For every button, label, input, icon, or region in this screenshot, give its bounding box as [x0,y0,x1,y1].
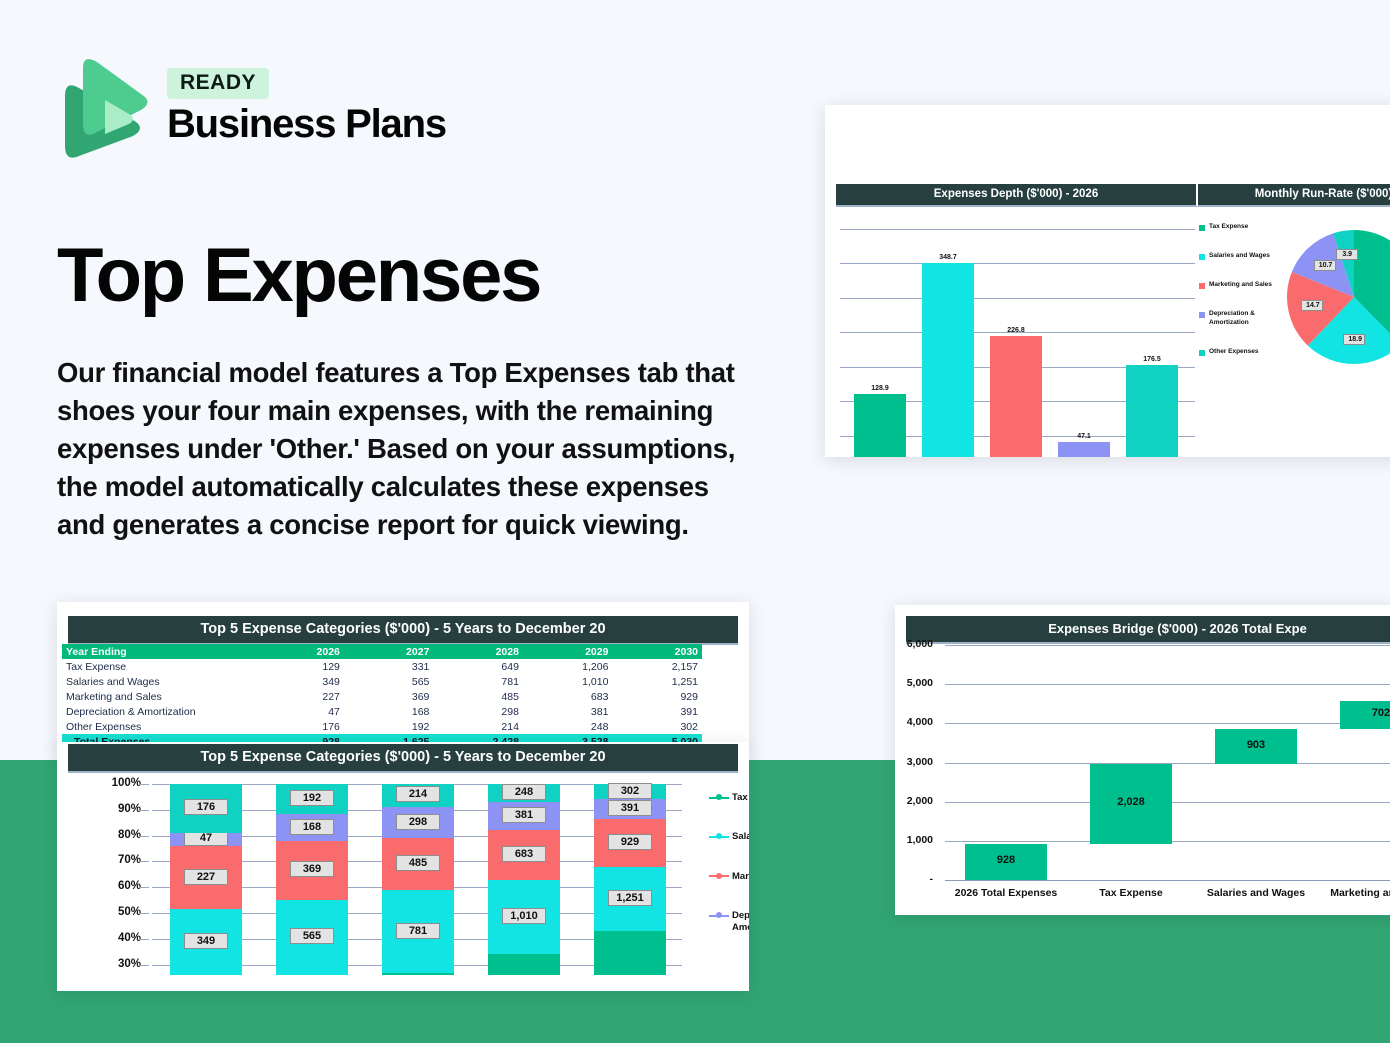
y-tick-label: 1,000 [907,834,933,846]
panel-expenses-depth: Expenses Depth ($'000) - 2026 Monthly Ru… [825,105,1390,457]
y-tick-label: 30% [118,958,141,970]
cell: 381 [523,704,613,719]
cell: 298 [433,704,523,719]
cell: 302 [612,719,702,734]
legend-swatch [1199,283,1205,289]
tick-mark [139,887,149,888]
legend-marker [709,872,729,880]
bar-value-label: 176.5 [1126,356,1178,363]
chart-title-expenses-depth: Expenses Depth ($'000) - 2026 [836,184,1198,207]
legend-label: Marketing and Sales [1209,281,1272,289]
stacked-legend-item-1: Salaries and Wages [709,831,749,842]
row-label: Salaries and Wages [62,674,262,689]
y-tick-label: 70% [118,854,141,866]
table-body: Tax Expense1293316491,2062,157Salaries a… [62,659,702,749]
cell: 781 [433,674,523,689]
row-label: Other Expenses [62,719,262,734]
row-label: Marketing and Sales [62,689,262,704]
gridline [945,880,1390,881]
ready-badge: READY [167,68,269,99]
segment-value-label: 781 [396,923,440,939]
table-row: Marketing and Sales227369485683929 [62,689,702,704]
hero-section: READY Business Plans Top Expenses Our fi… [57,55,787,544]
segment-value-label: 349 [184,933,228,949]
bar-value-label: 47.1 [1058,433,1110,440]
tick-mark [139,784,149,785]
stacked-chart-yaxis: 30%40%50%60%70%80%90%100% [67,780,149,975]
bridge-chart-plot: 9282,028903702 [945,645,1390,880]
page-title: Top Expenses [57,238,787,314]
stacked-chart-legend: Tax ExpenseSalaries and WagesMarketing a… [709,792,749,961]
col-header-2: 2027 [344,644,434,659]
col-header-1: 2026 [262,644,344,659]
category-label: 2026 Total Expenses [945,887,1067,899]
bridge-chart-yaxis: -1,0002,0003,0004,0005,0006,000 [895,645,941,880]
legend-item-4: Other Expenses [1199,348,1285,356]
y-tick-label: 50% [118,906,141,918]
tick-mark [139,913,149,914]
pie-value-label: 10.7 [1314,260,1336,271]
segment-value-label: 1,251 [608,890,652,906]
category-label: Tax Expense [1070,887,1192,899]
panel-expenses-bridge: Expenses Bridge ($'000) - 2026 Total Exp… [895,605,1390,915]
gridline [840,263,1195,264]
segment-value-label: 381 [502,807,546,823]
stack-segment-0 [382,973,454,975]
stacked-legend-item-3: Depreciation & Amortization [709,910,749,933]
y-tick-label: - [930,873,934,885]
stack-segment-0 [488,954,560,975]
gridline [840,298,1195,299]
legend-label: Salaries and Wages [732,831,749,842]
panel-top5-stacked-chart: Top 5 Expense Categories ($'000) - 5 Yea… [57,742,749,991]
cell: 1,010 [523,674,613,689]
legend-label: Salaries and Wages [1209,252,1270,260]
y-tick-label: 3,000 [907,756,933,768]
cell: 485 [433,689,523,704]
segment-value-label: 369 [290,861,334,877]
y-tick-label: 4,000 [907,716,933,728]
cell: 2,157 [612,659,702,674]
segment-value-label: 683 [502,846,546,862]
segment-value-label: 176 [184,799,228,815]
stacked-legend-item-0: Tax Expense [709,792,749,803]
brand-text: READY Business Plans [167,68,446,147]
page-description: Our financial model features a Top Expen… [57,354,757,544]
bar-4 [1126,365,1178,457]
cell: 929 [612,689,702,704]
table-row: Tax Expense1293316491,2062,157 [62,659,702,674]
cell: 1,206 [523,659,613,674]
waterfall-value-label: 2,028 [1090,796,1172,808]
legend-label: Tax Expense [732,792,749,803]
row-label: Tax Expense [62,659,262,674]
cell: 565 [344,674,434,689]
bar-3 [1058,442,1110,457]
panel-top5-table: Top 5 Expense Categories ($'000) - 5 Yea… [57,602,749,752]
play-triangles-logo-icon [57,58,149,158]
col-header-5: 2030 [612,644,702,659]
segment-value-label: 302 [608,783,652,799]
pie-value-label: 18.9 [1343,334,1365,345]
stacked-chart-title: Top 5 Expense Categories ($'000) - 5 Yea… [68,744,738,773]
bar-value-label: 128.9 [854,385,906,392]
pie-value-label: 3.9 [1336,249,1358,260]
gridline [840,229,1195,230]
bar-1 [922,263,974,457]
stacked-chart-plot: 349227471765653691681927814852982141,010… [152,780,682,975]
bar-value-label: 348.7 [922,254,974,261]
stack-segment-0 [594,931,666,975]
bar-value-label: 226.8 [990,327,1042,334]
tick-mark [139,939,149,940]
monthly-run-rate-pie: 18.914.710.73.9 [1287,230,1390,365]
cell: 369 [344,689,434,704]
legend-label: Marketing and Sales [732,871,749,882]
cell: 248 [523,719,613,734]
cell: 331 [344,659,434,674]
y-tick-label: 90% [118,803,141,815]
segment-value-label: 168 [290,819,334,835]
table-row: Salaries and Wages3495657811,0101,251 [62,674,702,689]
waterfall-value-label: 928 [965,854,1047,866]
tick-mark [139,836,149,837]
legend-swatch [1199,225,1205,231]
cell: 176 [262,719,344,734]
segment-value-label: 227 [184,869,228,885]
cell: 214 [433,719,523,734]
legend-item-0: Tax Expense [1199,223,1285,231]
legend-marker [709,832,729,840]
cell: 129 [262,659,344,674]
cell: 391 [612,704,702,719]
legend-label: Tax Expense [1209,223,1248,231]
segment-value-label: 214 [396,786,440,802]
segment-value-label: 298 [396,814,440,830]
col-header-0: Year Ending [62,644,262,659]
expenses-depth-plot: 128.9348.7226.847.1176.5 [840,215,1195,457]
cell: 192 [344,719,434,734]
bar-2 [990,336,1042,457]
y-tick-label: 80% [118,829,141,841]
cell: 683 [523,689,613,704]
legend-label: Depreciation & Amortization [1209,310,1285,326]
legend-swatch [1199,254,1205,260]
tick-mark [139,965,149,966]
category-label: Salaries and Wages [1195,887,1317,899]
segment-value-label: 192 [290,790,334,806]
legend-swatch [1199,312,1205,318]
bar-0 [854,394,906,457]
segment-value-label: 565 [290,928,334,944]
col-header-3: 2028 [433,644,523,659]
row-label: Depreciation & Amortization [62,704,262,719]
bridge-chart-title: Expenses Bridge ($'000) - 2026 Total Exp… [906,616,1390,644]
brand-logo-row: READY Business Plans [57,55,787,160]
col-header-4: 2029 [523,644,613,659]
segment-value-label: 485 [396,855,440,871]
stacked-legend-item-2: Marketing and Sales [709,871,749,882]
segment-value-label: 248 [502,784,546,800]
cell: 168 [344,704,434,719]
top5-expense-table: Year Ending20262027202820292030 Tax Expe… [62,644,742,749]
cell: 227 [262,689,344,704]
panel-a-title-row: Expenses Depth ($'000) - 2026 Monthly Ru… [836,184,1390,207]
brand-name: Business Plans [167,102,446,147]
legend-swatch [1199,350,1205,356]
cell: 649 [433,659,523,674]
legend-item-1: Salaries and Wages [1199,252,1285,260]
table-title: Top 5 Expense Categories ($'000) - 5 Yea… [68,616,738,645]
segment-value-label: 929 [608,834,652,850]
waterfall-value-label: 903 [1215,739,1297,751]
segment-value-label: 391 [608,800,652,816]
legend-label: Other Expenses [1209,348,1259,356]
legend-label: Depreciation & Amortization [732,910,749,933]
tick-mark [139,810,149,811]
y-tick-label: 40% [118,932,141,944]
category-label: Marketing and Sales [1320,887,1390,899]
table-row: Depreciation & Amortization4716829838139… [62,704,702,719]
y-tick-label: 5,000 [907,677,933,689]
gridline [945,645,1390,646]
y-tick-label: 100% [112,777,141,789]
table-header-row: Year Ending20262027202820292030 [62,644,702,659]
cell: 349 [262,674,344,689]
y-tick-label: 2,000 [907,795,933,807]
gridline [945,684,1390,685]
table-row: Other Expenses176192214248302 [62,719,702,734]
pie-value-label: 14.7 [1301,300,1323,311]
legend-marker [709,793,729,801]
tick-mark [139,861,149,862]
y-tick-label: 6,000 [907,638,933,650]
cell: 1,251 [612,674,702,689]
bridge-chart-categories: 2026 Total ExpensesTax ExpenseSalaries a… [945,885,1390,905]
cell: 47 [262,704,344,719]
legend-marker [709,911,729,919]
waterfall-value-label: 702 [1340,707,1390,719]
expenses-depth-legend: Tax ExpenseSalaries and WagesMarketing a… [1199,223,1285,377]
segment-value-label: 1,010 [502,908,546,924]
chart-title-monthly-run-rate: Monthly Run-Rate ($'000) - [1198,184,1390,207]
gridline [945,723,1390,724]
legend-item-2: Marketing and Sales [1199,281,1285,289]
y-tick-label: 60% [118,880,141,892]
legend-item-3: Depreciation & Amortization [1199,310,1285,326]
